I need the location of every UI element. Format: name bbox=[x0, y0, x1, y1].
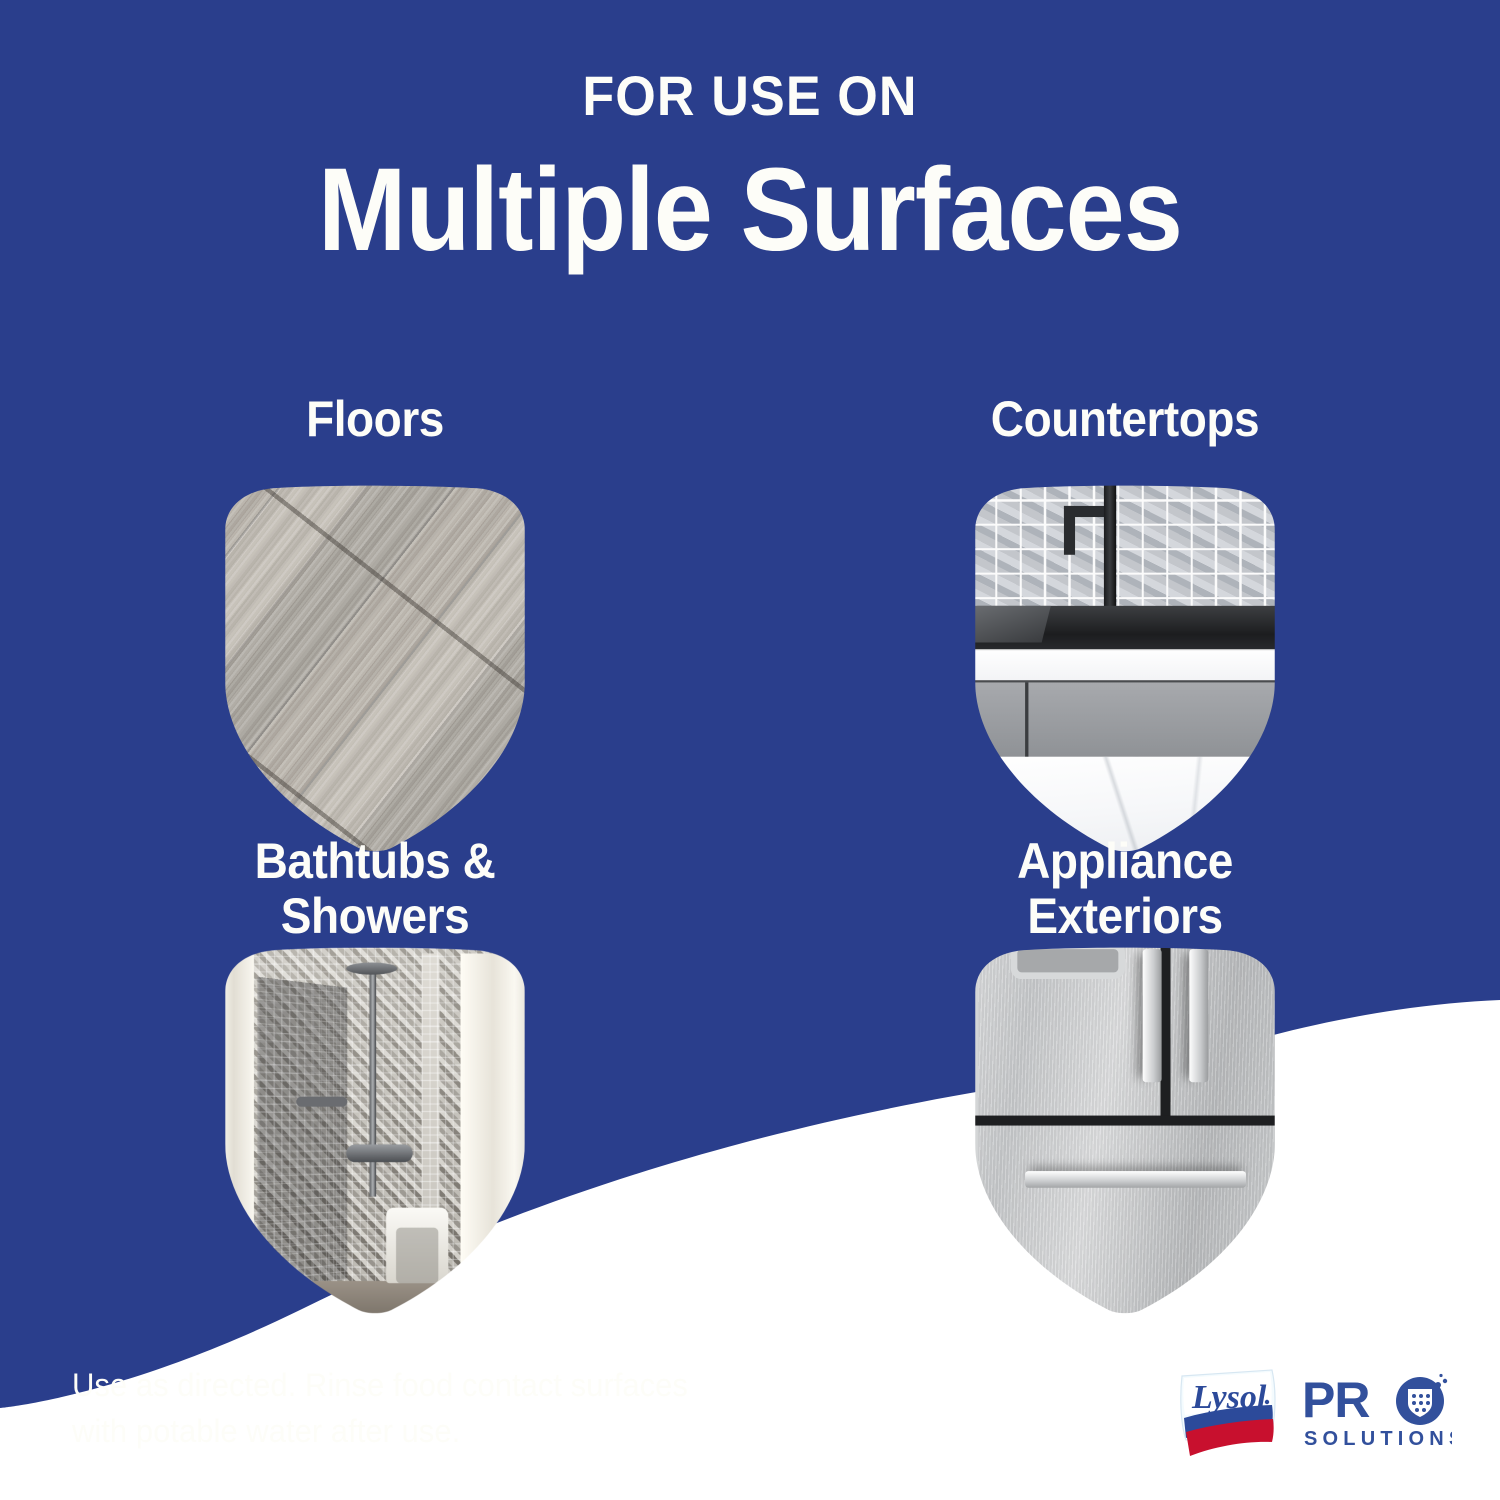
fridge-door-seam-vertical bbox=[1161, 946, 1171, 1119]
surface-label-appliance-exteriors: Appliance Exteriors bbox=[780, 834, 1470, 954]
surfaces-row-top: Floors Countertops bbox=[0, 390, 1500, 834]
surfaces-grid: Floors Countertops bbox=[0, 390, 1500, 1296]
shield-frame-appliance-exteriors bbox=[964, 964, 1286, 1296]
surfaces-row-bottom: Bathtubs & Showers bbox=[0, 834, 1500, 1296]
sink-bowl bbox=[949, 605, 1051, 642]
shower-floor bbox=[253, 1281, 467, 1314]
poster-canvas: FOR USE ON Multiple Surfaces Floors Coun… bbox=[0, 0, 1500, 1500]
brand-logo-lockup: Lysol PR SOL bbox=[1172, 1366, 1452, 1458]
shower-mixer-valve bbox=[346, 1145, 413, 1163]
shower-curtain-right bbox=[461, 953, 532, 1307]
solutions-text: SOLUTIONS bbox=[1304, 1428, 1452, 1450]
fridge-door-seam-horizontal bbox=[957, 1115, 1304, 1125]
page-title: Multiple Surfaces bbox=[75, 148, 1425, 273]
fridge-handle-left bbox=[1143, 949, 1162, 1082]
shower-curtain-left bbox=[203, 953, 253, 1307]
pro-solutions-logo: PR SOLUTIONS bbox=[1302, 1373, 1452, 1451]
shower-stool bbox=[386, 1207, 448, 1282]
surface-label-line: Bathtubs & bbox=[255, 834, 496, 889]
surface-card-countertops: Countertops bbox=[750, 390, 1500, 834]
rain-shower-head-icon bbox=[346, 962, 397, 974]
lysol-wordmark-text: Lysol bbox=[1191, 1379, 1267, 1416]
disclaimer-line-2: with potable water after use. bbox=[72, 1409, 712, 1454]
lysol-logo: Lysol bbox=[1172, 1366, 1284, 1458]
surface-label-line: Countertops bbox=[991, 392, 1259, 447]
surface-label-line: Appliance bbox=[1017, 834, 1233, 889]
shield-clip-floors bbox=[196, 484, 553, 853]
grey-wood-plank-floor-photo bbox=[196, 484, 553, 853]
fridge-handle-right bbox=[1189, 949, 1208, 1082]
surface-label-line: Floors bbox=[306, 392, 444, 447]
surface-label-bathtubs-showers: Bathtubs & Showers bbox=[30, 834, 720, 954]
shower-side-wall bbox=[257, 977, 346, 1290]
mosaic-backsplash bbox=[946, 484, 1303, 624]
counter-edge-white bbox=[946, 650, 1303, 683]
cabinet-gap-line bbox=[1025, 683, 1028, 757]
fridge-left-edge bbox=[946, 946, 978, 1315]
stainless-refrigerator-photo bbox=[946, 946, 1303, 1315]
disclaimer-text: Use as directed. Rinse food contact surf… bbox=[72, 1363, 712, 1454]
shower-grab-bar bbox=[296, 1097, 347, 1107]
header-block: FOR USE ON Multiple Surfaces bbox=[0, 68, 1500, 273]
disclaimer-line-1: Use as directed. Rinse food contact surf… bbox=[72, 1363, 712, 1408]
surface-card-bathtubs-showers: Bathtubs & Showers bbox=[0, 834, 750, 1296]
shield-frame-countertops bbox=[964, 502, 1286, 834]
tiled-shower-photo bbox=[196, 946, 553, 1315]
surface-label-line: Exteriors bbox=[1027, 889, 1222, 944]
shield-clip-countertops bbox=[946, 484, 1303, 853]
shield-clip-bathtubs-showers bbox=[196, 946, 553, 1315]
shield-frame-bathtubs-showers bbox=[214, 964, 536, 1296]
shield-frame-floors bbox=[214, 502, 536, 834]
fridge-dispenser-recess bbox=[1011, 946, 1125, 979]
surface-card-floors: Floors bbox=[0, 390, 750, 834]
surface-label-line: Showers bbox=[281, 889, 470, 944]
page-kicker: FOR USE ON bbox=[53, 68, 1448, 124]
cabinet-drawers bbox=[946, 683, 1303, 757]
fridge-drawer-handle bbox=[1025, 1171, 1247, 1188]
surface-card-appliance-exteriors: Appliance Exteriors bbox=[750, 834, 1500, 1296]
faucet-column bbox=[1104, 484, 1116, 617]
shield-clip-appliance-exteriors bbox=[946, 946, 1303, 1315]
kitchen-countertop-photo bbox=[946, 484, 1303, 853]
pro-text: PR bbox=[1302, 1373, 1370, 1428]
